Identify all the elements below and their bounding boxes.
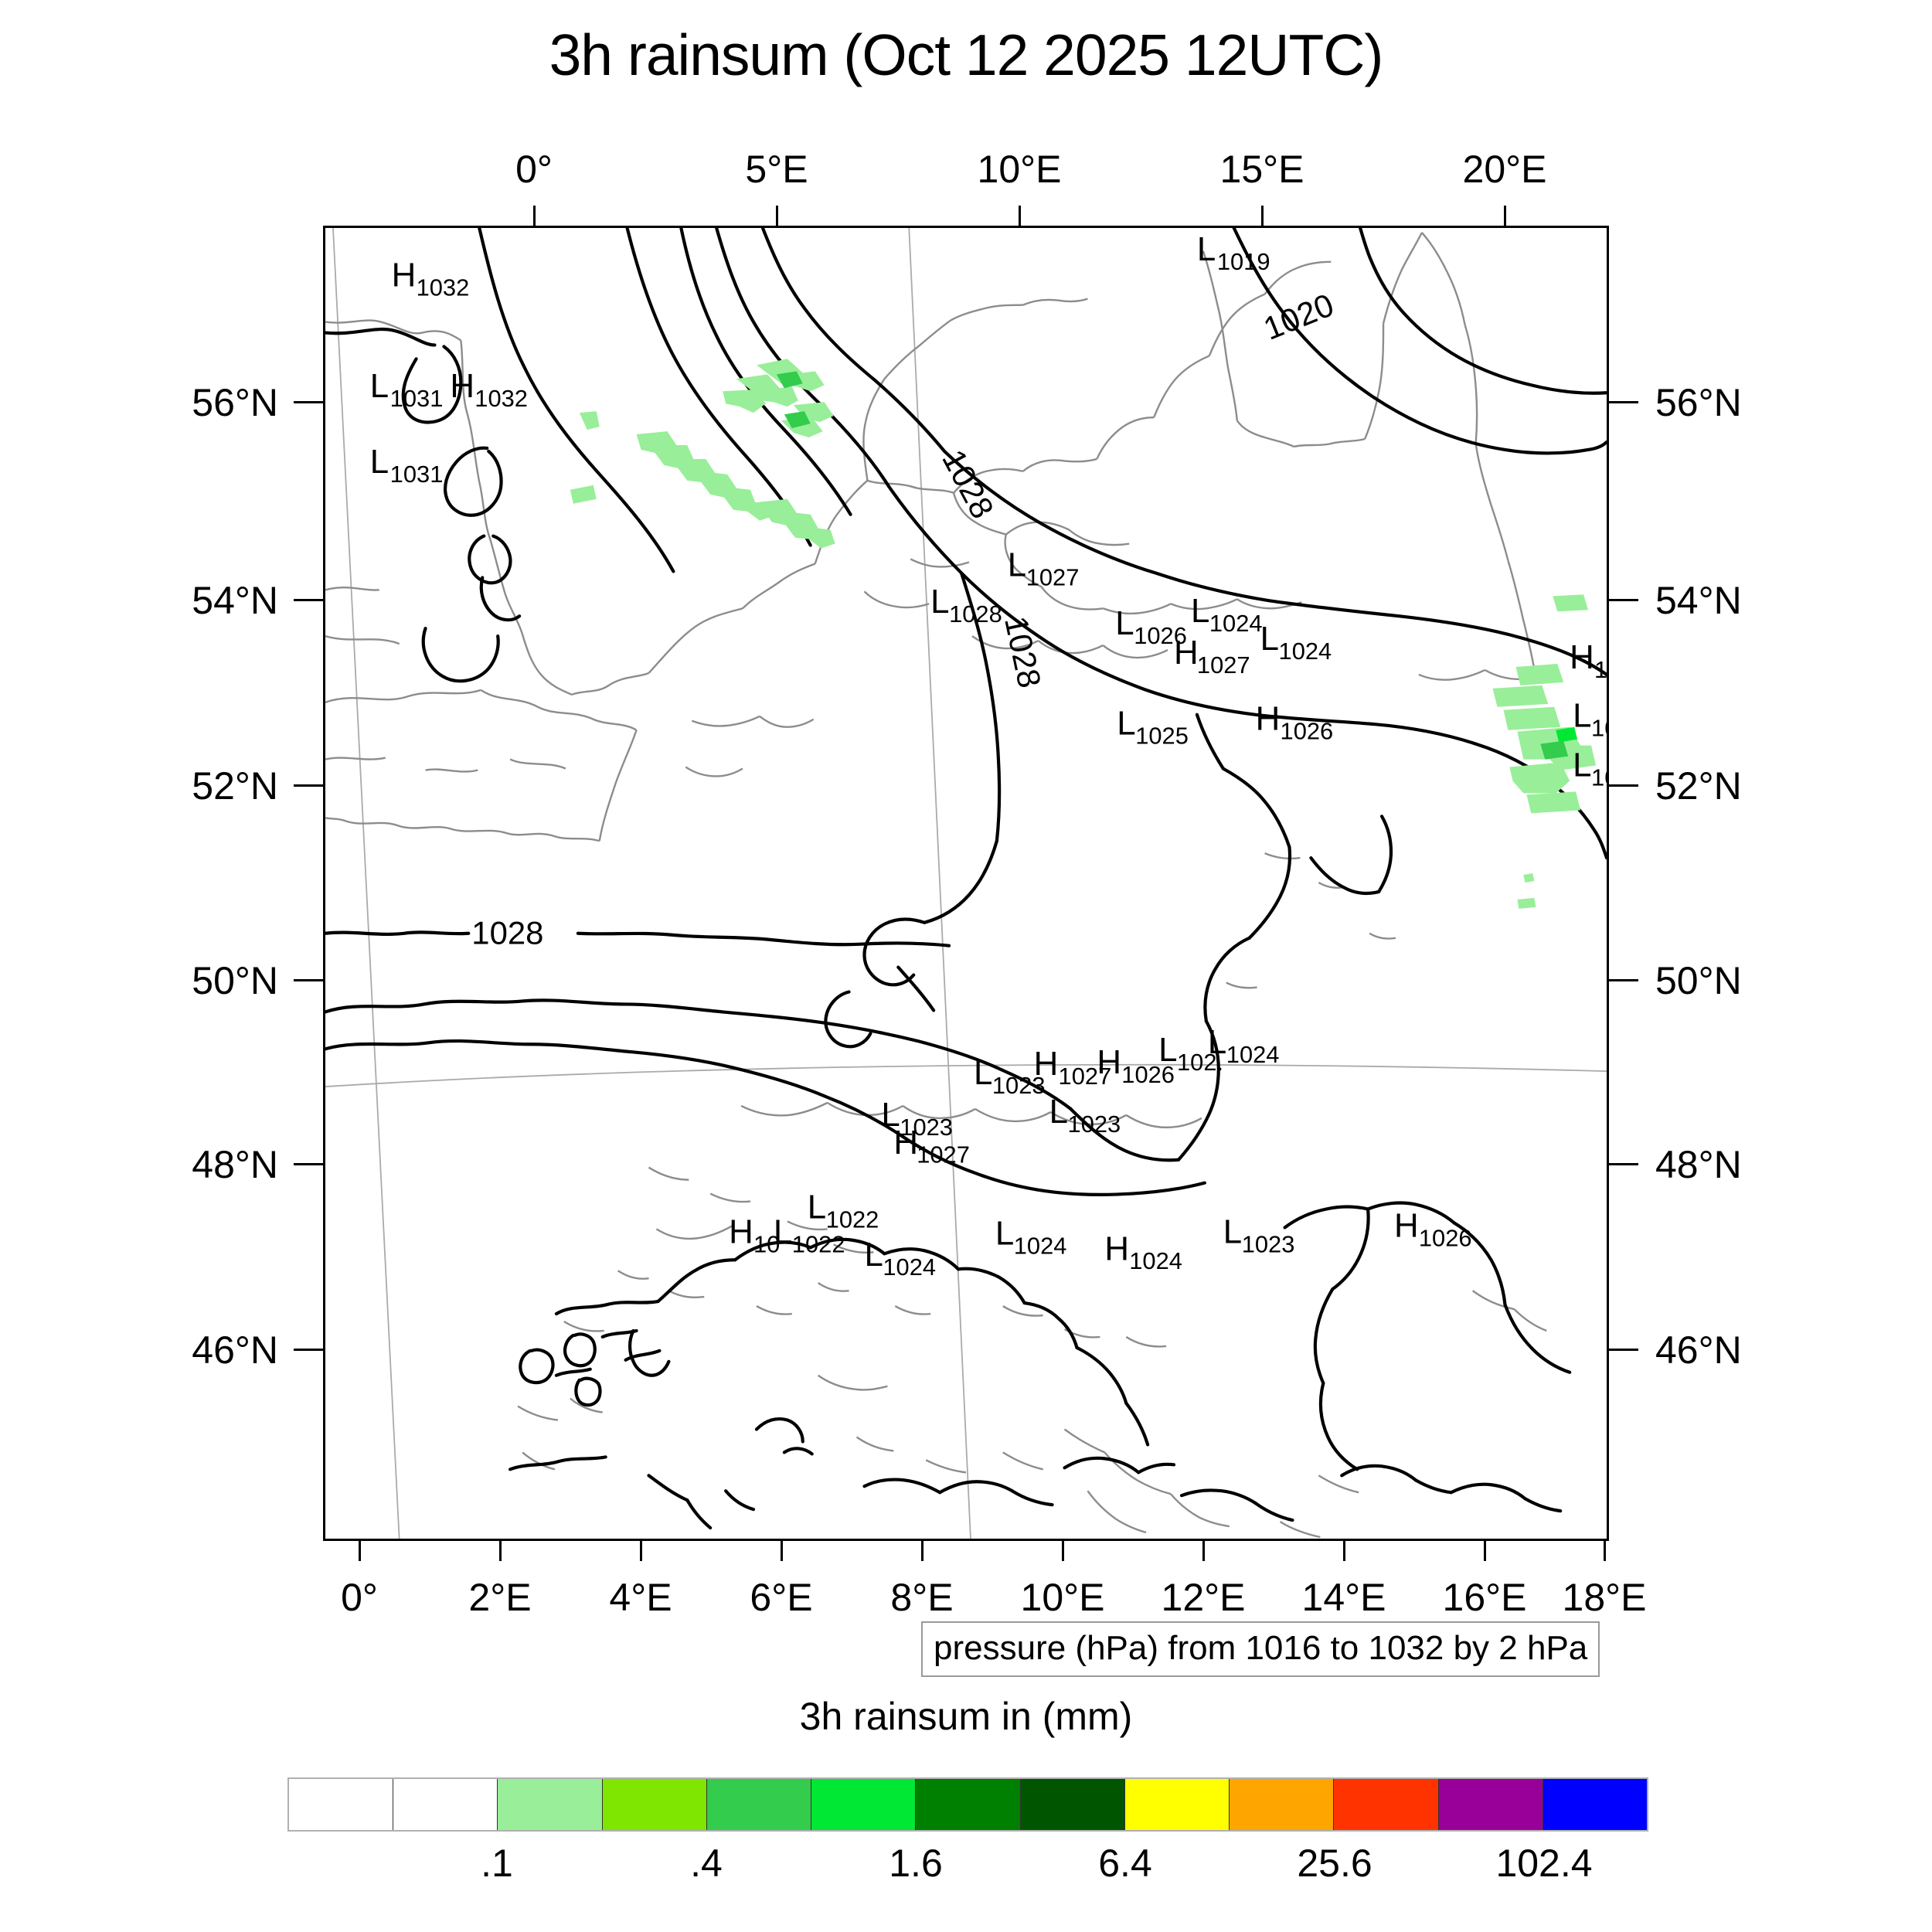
- extrema-type: H: [729, 1213, 753, 1250]
- pressure-legend-box: pressure (hPa) from 1016 to 1032 by 2 hP…: [921, 1621, 1600, 1677]
- extrema-type: L: [1049, 1093, 1068, 1131]
- colorbar[interactable]: [287, 1777, 1648, 1832]
- tick-top-0: [533, 206, 536, 226]
- extrema-marker: H 1: [1570, 638, 1607, 683]
- colorbar-tick: .1: [481, 1841, 513, 1886]
- extrema-marker: H 10: [729, 1213, 780, 1257]
- extrema-value: 1031: [390, 385, 444, 412]
- tick-bot-9: [1604, 1541, 1606, 1561]
- extrema-type: L: [995, 1214, 1014, 1252]
- colorbar-cell-5[interactable]: [811, 1779, 916, 1830]
- axis-label-right-lat: 52°N: [1655, 764, 1742, 808]
- colorbar-cell-0[interactable]: [289, 1779, 393, 1830]
- extrema-marker: H 1026: [1394, 1206, 1472, 1251]
- axis-label-top-lon: 0°: [515, 147, 553, 192]
- tick-bot-3: [781, 1541, 783, 1561]
- extrema-value: 1028: [949, 600, 1002, 628]
- extrema-marker: L 1023: [1049, 1093, 1121, 1138]
- extrema-type: H: [1256, 700, 1281, 738]
- axis-label-top-lon: 5°E: [745, 147, 808, 192]
- axis-label-bot-lon: 12°E: [1162, 1575, 1246, 1620]
- extrema-type: L: [1115, 604, 1134, 642]
- extrema-value: 1032: [417, 274, 470, 301]
- colorbar-cell-11[interactable]: [1439, 1779, 1543, 1830]
- extrema-type: L: [1573, 746, 1591, 784]
- colorbar-cell-2[interactable]: [498, 1779, 602, 1830]
- extrema-type: L: [1260, 620, 1279, 658]
- tick-right-3: [1609, 979, 1638, 981]
- colorbar-cell-8[interactable]: [1125, 1779, 1230, 1830]
- extrema-type: H: [1394, 1206, 1419, 1244]
- extrema-marker: H 1024: [1104, 1230, 1182, 1274]
- axis-label-bot-lon: 6°E: [750, 1575, 812, 1620]
- axis-label-left-lat: 50°N: [155, 958, 278, 1003]
- extrema-type: H: [392, 257, 417, 294]
- axis-label-right-lat: 56°N: [1655, 380, 1742, 425]
- extrema-type: L: [1008, 546, 1026, 583]
- extrema-value: 1024: [1226, 1041, 1280, 1068]
- axis-label-bot-lon: 0°: [341, 1575, 378, 1620]
- extrema-marker: H 1027: [1174, 634, 1250, 679]
- tick-bot-5: [1062, 1541, 1064, 1561]
- tick-bot-8: [1484, 1541, 1486, 1561]
- colorbar-cell-7[interactable]: [1021, 1779, 1125, 1830]
- axis-label-left-lat: 52°N: [155, 764, 278, 808]
- extrema-value: 1024: [1014, 1232, 1067, 1259]
- colorbar-tick: 6.4: [1098, 1841, 1152, 1886]
- extrema-marker: L 1025: [1117, 705, 1189, 750]
- tick-bot-4: [921, 1541, 923, 1561]
- tick-bot-0: [359, 1541, 361, 1561]
- extrema-type: H: [1174, 634, 1199, 672]
- axis-label-right-lat: 50°N: [1655, 958, 1742, 1003]
- extrema-value: 1: [1594, 656, 1607, 683]
- extrema-type: H: [893, 1124, 918, 1162]
- extrema-type: L: [864, 1236, 883, 1274]
- extrema-type: L: [1223, 1213, 1242, 1250]
- extrema-marker: L 1031: [370, 443, 444, 488]
- page-title: 3h rainsum (Oct 12 2025 12UTC): [0, 22, 1932, 88]
- weather-chart-page: 3h rainsum (Oct 12 2025 12UTC): [0, 0, 1932, 1932]
- tick-left-2: [294, 784, 323, 787]
- extrema-type: L: [370, 443, 389, 481]
- colorbar-cell-9[interactable]: [1230, 1779, 1334, 1830]
- axis-label-top-lon: 10°E: [978, 147, 1062, 192]
- tick-top-4: [1504, 206, 1506, 226]
- extrema-marker: L 1022: [808, 1188, 879, 1233]
- extrema-type: L: [808, 1188, 826, 1226]
- tick-left-5: [294, 1349, 323, 1351]
- pressure-extrema-group: H 1032 L 1031 H 1032 L 1031 L 1019: [370, 230, 1607, 1281]
- axis-label-bot-lon: 10°E: [1021, 1575, 1105, 1620]
- extrema-marker: L 1024: [1260, 620, 1332, 665]
- tick-right-0: [1609, 401, 1638, 403]
- tick-bot-2: [640, 1541, 642, 1561]
- axis-label-right-lat: 54°N: [1655, 578, 1742, 623]
- extrema-marker: L 1027: [1008, 546, 1080, 590]
- extrema-value: 1024: [883, 1253, 936, 1281]
- extrema-type: L: [774, 1213, 792, 1250]
- extrema-value: 1023: [1068, 1111, 1121, 1138]
- extrema-value: 10: [1591, 764, 1607, 791]
- tick-left-3: [294, 979, 323, 981]
- extrema-type: L: [1573, 697, 1591, 735]
- extrema-type: H: [1034, 1045, 1059, 1083]
- extrema-type: L: [1197, 230, 1216, 268]
- extrema-value: 10: [1591, 715, 1607, 742]
- extrema-value: 1024: [1129, 1247, 1182, 1274]
- axis-label-bot-lon: 4°E: [609, 1575, 672, 1620]
- colorbar-cell-10[interactable]: [1334, 1779, 1438, 1830]
- axis-label-right-lat: 46°N: [1655, 1328, 1742, 1372]
- extrema-value: 1024: [1209, 610, 1263, 637]
- extrema-type: L: [1208, 1023, 1226, 1061]
- tick-left-4: [294, 1163, 323, 1165]
- tick-left-1: [294, 599, 323, 601]
- tick-right-5: [1609, 1349, 1638, 1351]
- axis-label-left-lat: 46°N: [155, 1328, 278, 1372]
- graticule: [325, 228, 1607, 1539]
- tick-right-1: [1609, 599, 1638, 601]
- extrema-value: 1023: [1242, 1230, 1295, 1257]
- tick-bot-1: [499, 1541, 502, 1561]
- axis-label-bot-lon: 18°E: [1563, 1575, 1647, 1620]
- precipitation-shading: [570, 359, 1596, 908]
- tick-bot-6: [1202, 1541, 1205, 1561]
- extrema-type: L: [974, 1054, 992, 1092]
- extrema-marker: L 10: [1573, 746, 1607, 791]
- extrema-marker: H 1026: [1256, 700, 1334, 745]
- axis-label-bot-lon: 2°E: [468, 1575, 531, 1620]
- extrema-value: 1027: [917, 1141, 970, 1168]
- axis-label-right-lat: 48°N: [1655, 1142, 1742, 1187]
- axis-label-bot-lon: 14°E: [1302, 1575, 1386, 1620]
- map-canvas[interactable]: 1020 1028 1028 1028 H 1032 L 1031 H 1032: [325, 228, 1607, 1539]
- tick-top-2: [1019, 206, 1021, 226]
- extrema-marker: H 1032: [450, 367, 528, 412]
- axis-label-left-lat: 56°N: [155, 380, 278, 425]
- tick-bot-7: [1343, 1541, 1345, 1561]
- isobars: [325, 228, 1607, 1528]
- colorbar-tick: .4: [690, 1841, 723, 1886]
- extrema-type: L: [1117, 705, 1135, 743]
- axis-label-bot-lon: 16°E: [1443, 1575, 1527, 1620]
- extrema-type: H: [1570, 638, 1594, 676]
- colorbar-cell-4[interactable]: [707, 1779, 811, 1830]
- extrema-marker: L 10: [1573, 697, 1607, 742]
- extrema-marker: L 1024: [995, 1214, 1067, 1259]
- axis-label-top-lon: 15°E: [1220, 147, 1304, 192]
- tick-top-3: [1261, 206, 1264, 226]
- extrema-value: 1022: [792, 1230, 845, 1257]
- colorbar-cell-1[interactable]: [393, 1779, 498, 1830]
- extrema-marker: L 1024: [864, 1236, 936, 1281]
- extrema-marker: L 1023: [1223, 1213, 1295, 1257]
- contour-label-1028-north: 1028: [935, 444, 1001, 524]
- colorbar-cell-12[interactable]: [1543, 1779, 1647, 1830]
- extrema-type: L: [370, 367, 389, 405]
- extrema-type: H: [1104, 1230, 1129, 1267]
- extrema-value: 1022: [826, 1206, 879, 1233]
- extrema-value: 1024: [1279, 638, 1332, 665]
- extrema-type: L: [1158, 1031, 1177, 1069]
- colorbar-tick-labels: .1 .4 1.6 6.4 25.6 102.4: [287, 1841, 1648, 1895]
- colorbar-tick: 25.6: [1297, 1841, 1372, 1886]
- axis-label-left-lat: 54°N: [155, 578, 278, 623]
- map-panel[interactable]: 1020 1028 1028 1028 H 1032 L 1031 H 1032: [323, 226, 1609, 1541]
- extrema-value: 1032: [474, 385, 528, 412]
- tick-right-2: [1609, 784, 1638, 787]
- axis-label-bot-lon: 8°E: [890, 1575, 953, 1620]
- extrema-value: 1027: [1197, 651, 1250, 679]
- extrema-marker: H 1032: [392, 257, 470, 301]
- axis-label-left-lat: 48°N: [155, 1142, 278, 1187]
- extrema-type: L: [1191, 592, 1209, 630]
- extrema-value: 1031: [390, 461, 444, 488]
- tick-right-4: [1609, 1163, 1638, 1165]
- axis-label-top-lon: 20°E: [1463, 147, 1547, 192]
- colorbar-tick: 102.4: [1495, 1841, 1592, 1886]
- extrema-value: 1019: [1217, 248, 1270, 275]
- contour-label-1028-mid: 1028: [998, 613, 1048, 691]
- extrema-value: 1027: [1059, 1063, 1112, 1090]
- extrema-value: 1026: [1281, 718, 1334, 745]
- tick-top-1: [776, 206, 778, 226]
- extrema-type: H: [450, 367, 474, 405]
- colorbar-title: 3h rainsum in (mm): [0, 1694, 1932, 1739]
- colorbar-cell-3[interactable]: [603, 1779, 707, 1830]
- colorbar-tick: 1.6: [889, 1841, 943, 1886]
- extrema-type: L: [930, 583, 949, 621]
- extrema-value: 1026: [1419, 1224, 1472, 1251]
- colorbar-cell-6[interactable]: [916, 1779, 1020, 1830]
- contour-label-1028-west: 1028: [471, 915, 543, 951]
- extrema-value: 1027: [1026, 563, 1080, 590]
- tick-left-0: [294, 401, 323, 403]
- extrema-value: 1025: [1135, 723, 1189, 750]
- coastlines: [325, 233, 1551, 1537]
